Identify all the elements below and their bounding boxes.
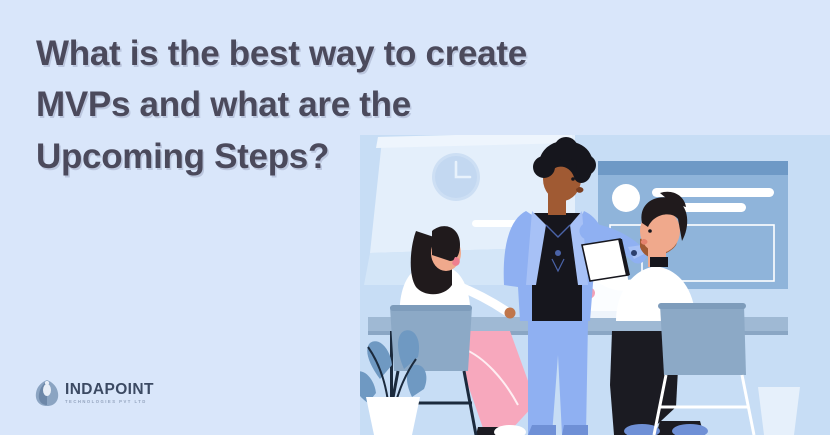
tablet bbox=[582, 239, 630, 281]
potted-plant bbox=[758, 387, 800, 435]
logo-wordmark: INDAPOINT bbox=[65, 382, 154, 398]
company-logo[interactable]: INDAPOINT TECHNOLOGIES PVT LTD bbox=[34, 379, 154, 407]
logo-tagline: TECHNOLOGIES PVT LTD bbox=[65, 400, 154, 404]
page-title: What is the best way to create MVPs and … bbox=[36, 28, 676, 182]
article-banner: What is the best way to create MVPs and … bbox=[0, 0, 830, 435]
indapoint-mark-icon bbox=[34, 379, 60, 407]
